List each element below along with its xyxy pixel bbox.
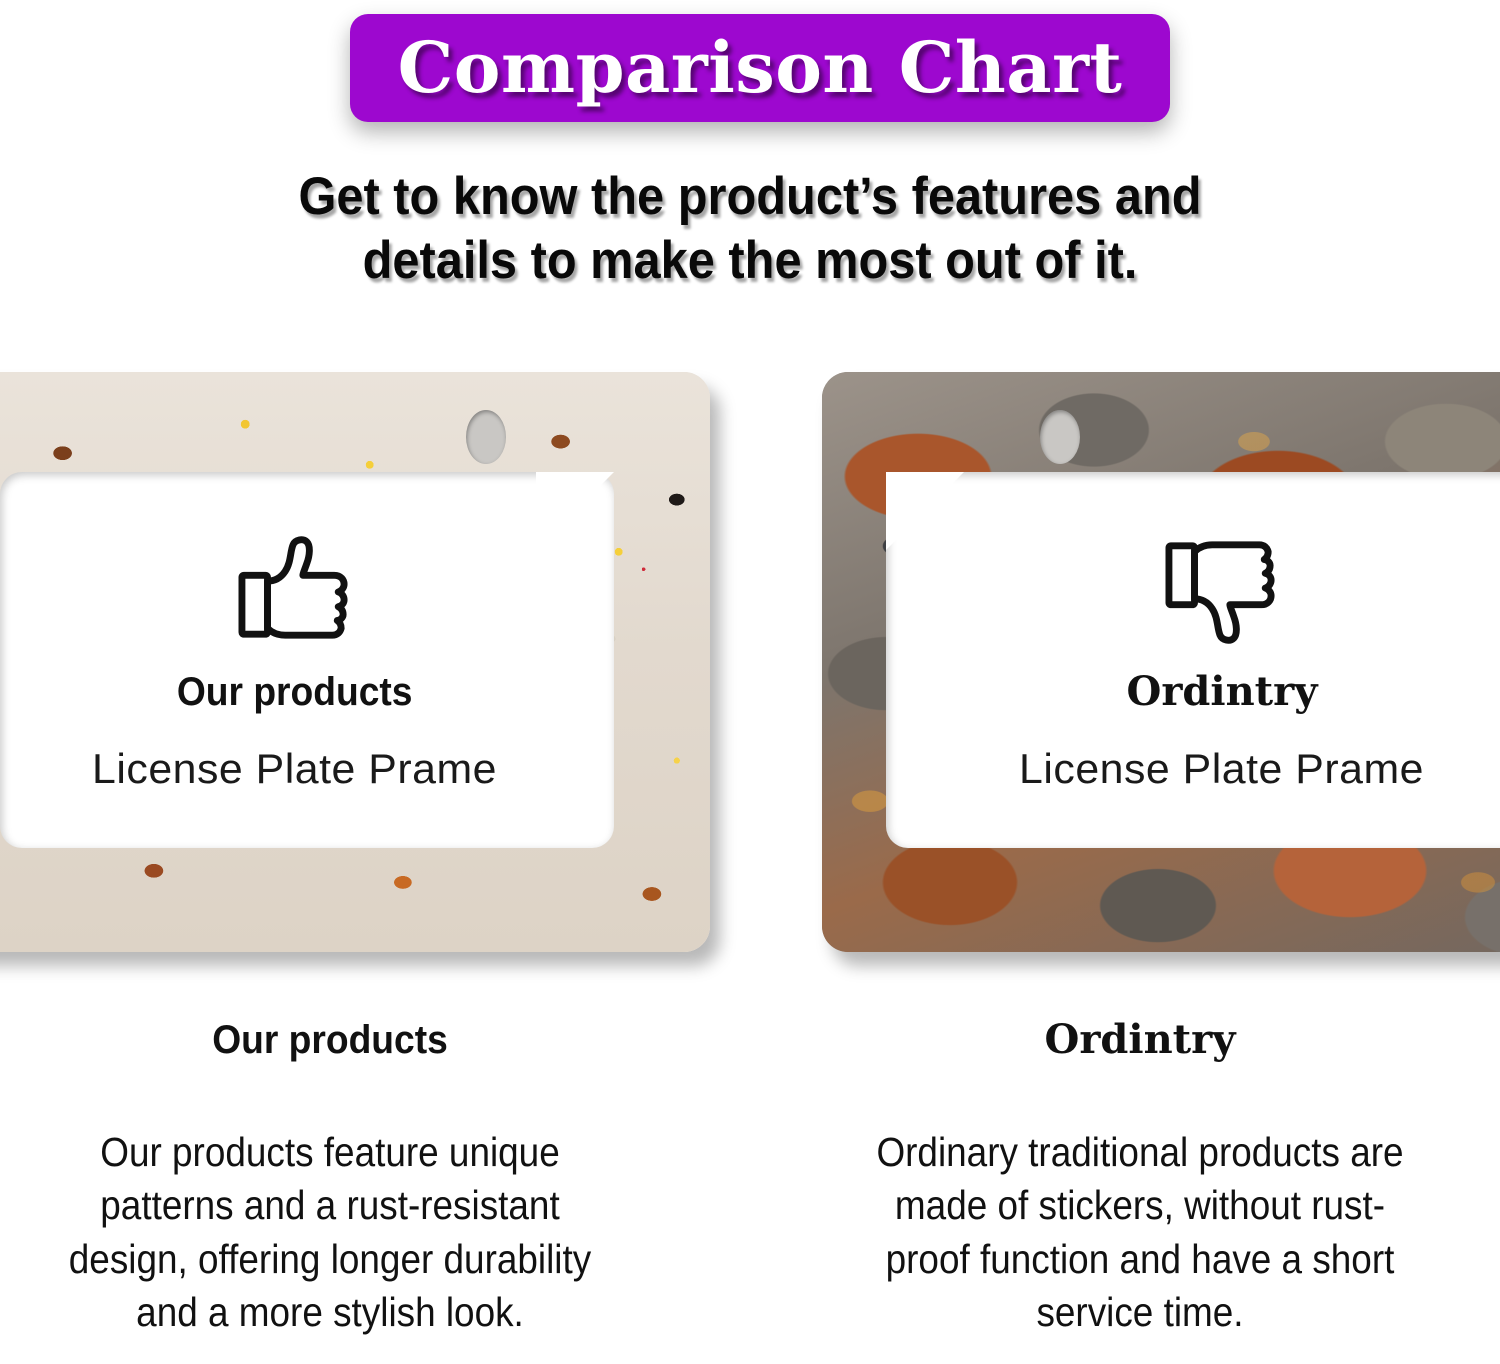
thumbs-down-icon: [1163, 534, 1281, 646]
right-inner-subtitle: License Plate Prame: [1019, 748, 1424, 790]
left-inner-title: Our products: [177, 672, 413, 712]
right-inner-title: Ordintry: [1127, 672, 1318, 712]
left-inner-subtitle: License Plate Prame: [92, 748, 497, 790]
product-frame-our-products: Our products License Plate Prame: [0, 372, 710, 952]
left-column-description: Our products feature unique patterns and…: [15, 1126, 645, 1339]
product-frame-ordinary: Ordintry License Plate Prame: [822, 372, 1500, 952]
right-column-description: Ordinary traditional products are made o…: [825, 1126, 1455, 1339]
thumbs-up-icon: [236, 534, 354, 646]
right-frame-content: Ordintry License Plate Prame: [822, 372, 1500, 952]
comparison-description-section: Our products Our products feature unique…: [0, 1020, 1500, 1364]
comparison-column-our-products: Our products Our products feature unique…: [0, 1020, 680, 1339]
left-frame-content: Our products License Plate Prame: [0, 372, 710, 952]
right-column-heading: Ordintry: [790, 1020, 1490, 1060]
left-column-heading: Our products: [5, 1020, 656, 1060]
comparison-column-ordinary: Ordintry Ordinary traditional products a…: [790, 1020, 1490, 1339]
